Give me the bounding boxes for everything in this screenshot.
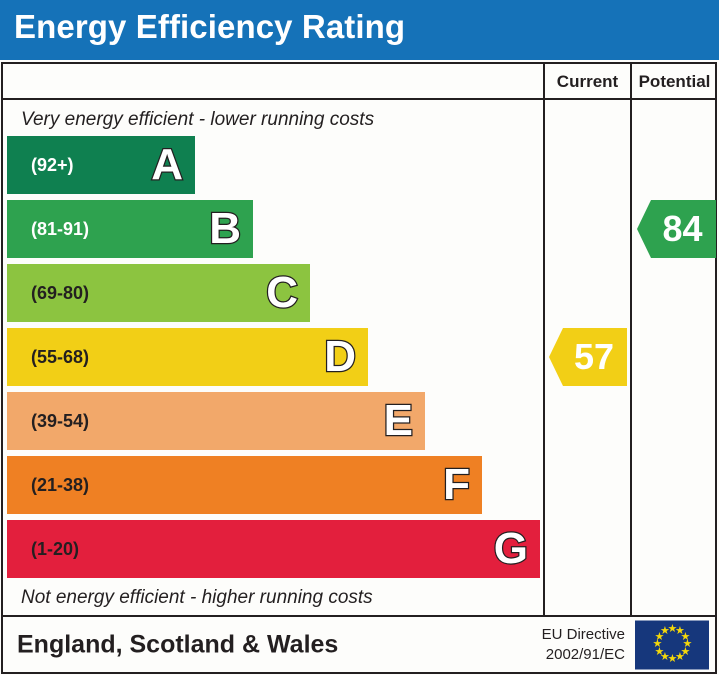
potential-rating-arrow: 84 [637,200,716,258]
band-a: (92+)A [7,136,195,194]
potential-rating-value: 84 [650,211,702,247]
directive-line-2: 2002/91/EC [542,645,625,665]
band-letter-a: A [151,143,183,187]
band-letter-e: E [384,399,413,443]
current-rating-arrow: 57 [549,328,627,386]
chart-footer: England, Scotland & Wales EU Directive 2… [1,617,717,674]
band-range-b: (81-91) [31,200,89,258]
column-header-current: Current [543,64,630,100]
band-letter-g: G [494,527,528,571]
caption-inefficient: Not energy efficient - higher running co… [21,587,373,609]
band-letter-d: D [324,335,356,379]
eu-flag-star: ★ [660,627,669,636]
band-letter-c: C [266,271,298,315]
band-range-a: (92+) [31,136,74,194]
band-letter-b: B [209,207,241,251]
footer-region-label: England, Scotland & Wales [17,630,338,659]
column-divider-current [543,100,545,615]
eu-flag-icon: ★★★★★★★★★★★★ [635,620,709,669]
caption-efficient: Very energy efficient - lower running co… [21,109,374,131]
band-f: (21-38)F [7,456,482,514]
band-range-f: (21-38) [31,456,89,514]
band-e: (39-54)E [7,392,425,450]
band-d: (55-68)D [7,328,368,386]
band-range-e: (39-54) [31,392,89,450]
band-range-d: (55-68) [31,328,89,386]
current-rating-value: 57 [562,339,614,375]
band-list: (92+)A(81-91)B(69-80)C(55-68)D(39-54)E(2… [7,136,541,584]
column-divider-potential [630,100,632,615]
band-g: (1-20)G [7,520,540,578]
table-header-row: Current Potential [3,64,715,100]
chart-title-bar: Energy Efficiency Rating [0,0,719,60]
column-header-potential: Potential [630,64,717,100]
directive-line-1: EU Directive [542,624,625,644]
epc-chart: Energy Efficiency Rating Current Potenti… [0,0,719,675]
band-range-c: (69-80) [31,264,89,322]
band-b: (81-91)B [7,200,253,258]
band-letter-f: F [443,463,470,507]
footer-directive: EU Directive 2002/91/EC [542,624,625,665]
band-c: (69-80)C [7,264,310,322]
page-title: Energy Efficiency Rating [14,8,405,46]
band-range-g: (1-20) [31,520,79,578]
rating-table: Current Potential Very energy efficient … [1,62,717,617]
